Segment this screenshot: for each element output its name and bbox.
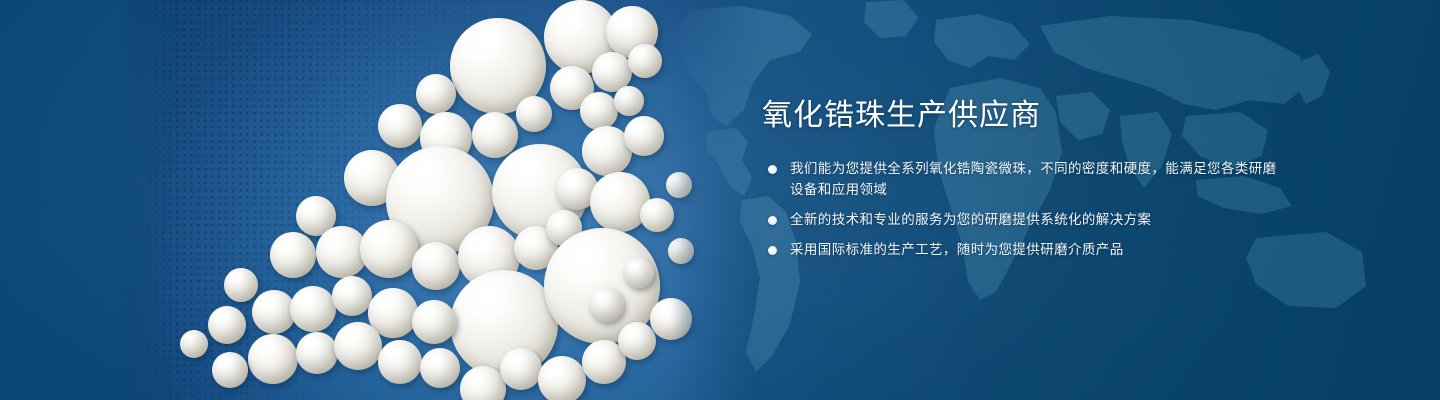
- hero-banner: 氧化锆珠生产供应商 我们能为您提供全系列氧化锆陶瓷微珠，不同的密度和硬度，能满足…: [0, 0, 1440, 400]
- list-item: 全新的技术和专业的服务为您的研磨提供系统化的解决方案: [762, 209, 1282, 230]
- feature-list: 我们能为您提供全系列氧化锆陶瓷微珠，不同的密度和硬度，能满足您各类研磨设备和应用…: [762, 158, 1282, 260]
- bullet-dot-icon: [768, 216, 777, 225]
- list-item-label: 采用国际标准的生产工艺，随时为您提供研磨介质产品: [790, 239, 1282, 260]
- bead-cluster: [120, 0, 760, 400]
- page-title: 氧化锆珠生产供应商: [762, 96, 1282, 136]
- list-item: 采用国际标准的生产工艺，随时为您提供研磨介质产品: [762, 239, 1282, 260]
- list-item-label: 全新的技术和专业的服务为您的研磨提供系统化的解决方案: [790, 209, 1282, 230]
- banner-content: 氧化锆珠生产供应商 我们能为您提供全系列氧化锆陶瓷微珠，不同的密度和硬度，能满足…: [762, 96, 1282, 260]
- list-item-label: 我们能为您提供全系列氧化锆陶瓷微珠，不同的密度和硬度，能满足您各类研磨设备和应用…: [790, 158, 1282, 200]
- zirconia-beads-photo: [120, 0, 760, 400]
- list-item: 我们能为您提供全系列氧化锆陶瓷微珠，不同的密度和硬度，能满足您各类研磨设备和应用…: [762, 158, 1282, 200]
- bullet-dot-icon: [768, 246, 777, 255]
- bullet-dot-icon: [768, 165, 777, 174]
